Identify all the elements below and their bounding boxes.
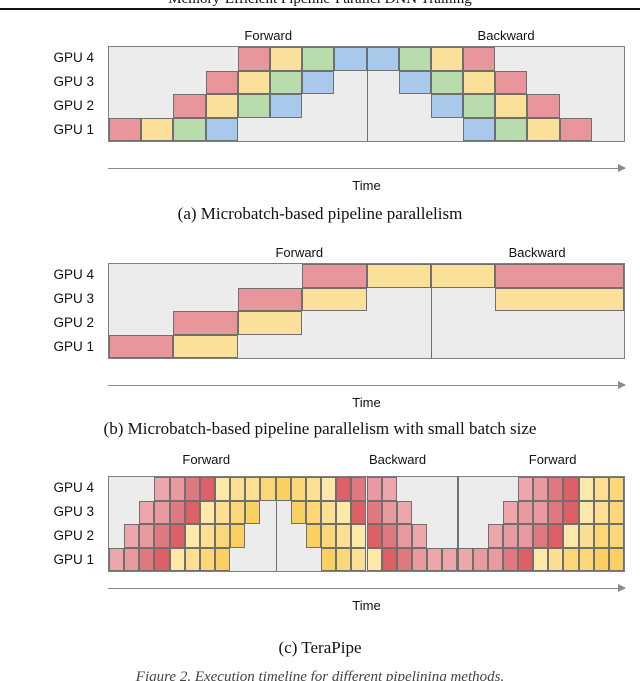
timeline-cell [351,477,366,501]
timeline-cell [185,548,200,572]
timeline-cell [463,47,495,71]
axis-line [108,168,625,169]
timeline-cell [427,548,442,572]
timeline-cell [579,524,594,548]
phase-label-backward-1: Backward [509,245,566,260]
timeline-cell [276,477,291,501]
timeline-cell [321,477,336,501]
arrow-head-icon [618,584,626,592]
timeline-cell [154,524,169,548]
timeline-cell [527,94,559,118]
timeline-cell [321,524,336,548]
timeline-cell [442,548,457,572]
timeline-cell [609,524,624,548]
timeline-cell [367,477,382,501]
gpu-label-gpu-2: GPU 2 [53,99,94,113]
timeline-cell [336,501,351,525]
axis-title-time: Time [108,598,625,613]
timeline-cell [533,477,548,501]
timeline-cell [200,524,215,548]
timeline-cell [200,477,215,501]
timeline-cell [412,524,427,548]
timeline-cell [503,548,518,572]
axis-line [108,385,625,386]
timeline-cell [260,477,275,501]
timeline-cell [594,548,609,572]
timeline-cell [321,501,336,525]
panel-caption-a: (a) Microbatch-based pipeline parallelis… [0,204,640,224]
timeline-cell [141,118,173,142]
timeline-cell [399,71,431,95]
timeline-cell [495,71,527,95]
timeline-cell [488,548,503,572]
timeline-cell [173,335,237,359]
timeline-cell [238,71,270,95]
timeline-cell [185,501,200,525]
timeline-cell [518,477,533,501]
phase-label-row: ForwardBackwardForward [108,452,625,469]
timeline-cell [594,501,609,525]
timeline-cell [548,477,563,501]
gpu-axis-labels: GPU 4GPU 3GPU 2GPU 1 [0,263,100,359]
timeline-cell [548,501,563,525]
figure-root: Memory-Efficient Pipeline-Parallel DNN T… [0,0,640,680]
timeline-cell [412,548,427,572]
gpu-label-gpu-4: GPU 4 [53,481,94,495]
timeline-cell [173,94,205,118]
gpu-label-gpu-4: GPU 4 [53,268,94,282]
timeline-cell [563,477,578,501]
axis-title-time: Time [108,395,625,410]
phase-label-forward-2: Forward [529,452,577,467]
timeline-cell [367,264,431,288]
timeline-cell [270,94,302,118]
timeline-cell [238,288,302,312]
timeline-cell [473,548,488,572]
timeline-cell [382,501,397,525]
timeline-cell [124,524,139,548]
timeline-cell [397,501,412,525]
timeline-cell [170,477,185,501]
phase-label-backward-1: Backward [369,452,426,467]
timeline-cell [336,524,351,548]
timeline-cell [563,501,578,525]
phase-divider [276,477,277,571]
timeline-cell [495,94,527,118]
timeline-plot-b [108,263,625,359]
timeline-cell [533,501,548,525]
gpu-label-gpu-3: GPU 3 [53,505,94,519]
timeline-cell [206,71,238,95]
timeline-cell [230,524,245,548]
gpu-label-gpu-1: GPU 1 [53,340,94,354]
timeline-cell [306,524,321,548]
timeline-cell [609,477,624,501]
timeline-cell [351,548,366,572]
timeline-cell [291,501,306,525]
timeline-cell [533,524,548,548]
timeline-cell [270,71,302,95]
timeline-cell [230,477,245,501]
timeline-cell [238,311,302,335]
phase-label-backward-1: Backward [478,28,535,43]
timeline-cell [579,548,594,572]
timeline-cell [124,548,139,572]
timeline-cell [518,524,533,548]
gpu-label-gpu-2: GPU 2 [53,529,94,543]
timeline-plot-c [108,476,625,572]
timeline-cell [336,548,351,572]
timeline-cell [495,118,527,142]
phase-label-row: ForwardBackward [108,245,625,262]
gpu-axis-labels: GPU 4GPU 3GPU 2GPU 1 [0,46,100,142]
timeline-cell [463,118,495,142]
timeline-cell [185,524,200,548]
timeline-cell [594,477,609,501]
time-axis-arrow [108,583,625,595]
timeline-cell [238,47,270,71]
timeline-cell [109,335,173,359]
timeline-cell [579,501,594,525]
timeline-cell [245,501,260,525]
timeline-cell [173,118,205,142]
phase-label-forward-0: Forward [244,28,292,43]
arrow-head-icon [618,164,626,172]
timeline-cell [367,501,382,525]
timeline-cell [518,501,533,525]
timeline-cell [503,524,518,548]
timeline-cell [463,94,495,118]
gpu-label-gpu-2: GPU 2 [53,316,94,330]
timeline-cell [215,501,230,525]
timeline-cell [367,47,399,71]
gpu-label-gpu-3: GPU 3 [53,75,94,89]
timeline-cell [457,548,472,572]
timeline-cell [351,524,366,548]
timeline-cell [463,71,495,95]
timeline-cell [548,524,563,548]
timeline-cell [302,288,366,312]
timeline-cell [154,477,169,501]
timeline-cell [609,548,624,572]
timeline-plot-a [108,46,625,142]
timeline-cell [302,71,334,95]
timeline-cell [563,548,578,572]
timeline-cell [302,47,334,71]
gpu-label-gpu-1: GPU 1 [53,123,94,137]
time-axis-arrow [108,380,625,392]
timeline-cell [238,94,270,118]
timeline-cell [206,94,238,118]
timeline-cell [170,501,185,525]
timeline-cell [154,501,169,525]
gpu-label-gpu-4: GPU 4 [53,51,94,65]
timeline-cell [109,118,141,142]
figure-caption: Figure 2. Execution timeline for differe… [0,669,640,681]
timeline-cell [488,524,503,548]
timeline-cell [200,501,215,525]
timeline-cell [321,548,336,572]
timeline-cell [170,548,185,572]
timeline-cell [185,477,200,501]
gpu-label-gpu-3: GPU 3 [53,292,94,306]
timeline-cell [548,548,563,572]
phase-divider [367,47,368,141]
gpu-axis-labels: GPU 4GPU 3GPU 2GPU 1 [0,476,100,572]
timeline-cell [291,477,306,501]
timeline-cell [527,118,559,142]
timeline-cell [245,477,260,501]
timeline-cell [382,524,397,548]
timeline-cell [215,477,230,501]
timeline-cell [382,477,397,501]
timeline-cell [399,47,431,71]
timeline-cell [200,548,215,572]
timeline-cell [367,524,382,548]
timeline-cell [215,548,230,572]
timeline-cell [518,548,533,572]
timeline-cell [139,501,154,525]
timeline-cell [579,477,594,501]
timeline-cell [495,264,624,288]
axis-line [108,588,625,589]
phase-label-forward-0: Forward [182,452,230,467]
timeline-cell [154,548,169,572]
timeline-cell [609,501,624,525]
timeline-cell [431,94,463,118]
panel-caption-c: (c) TeraPipe [0,638,640,658]
timeline-cell [270,47,302,71]
timeline-cell [560,118,592,142]
timeline-cell [170,524,185,548]
timeline-cell [302,264,366,288]
axis-title-time: Time [108,178,625,193]
phase-label-forward-0: Forward [275,245,323,260]
timeline-cell [306,501,321,525]
timeline-cell [594,524,609,548]
gpu-label-gpu-1: GPU 1 [53,553,94,567]
phase-divider [457,477,458,571]
timeline-cell [533,548,548,572]
timeline-cell [306,477,321,501]
phase-divider [431,264,432,358]
time-axis-arrow [108,163,625,175]
timeline-cell [397,548,412,572]
timeline-cell [431,264,495,288]
arrow-head-icon [618,381,626,389]
timeline-cell [173,311,237,335]
timeline-cell [230,501,245,525]
timeline-cell [503,501,518,525]
header-rule [0,8,640,10]
timeline-cell [351,501,366,525]
timeline-cell [139,548,154,572]
timeline-cell [382,548,397,572]
timeline-cell [563,524,578,548]
timeline-cell [495,288,624,312]
phase-label-row: ForwardBackward [108,28,625,45]
timeline-cell [215,524,230,548]
timeline-cell [139,524,154,548]
panel-caption-b: (b) Microbatch-based pipeline parallelis… [0,419,640,439]
timeline-cell [206,118,238,142]
timeline-cell [431,47,463,71]
timeline-cell [431,71,463,95]
timeline-cell [334,47,366,71]
timeline-cell [109,548,124,572]
timeline-cell [367,548,382,572]
timeline-cell [336,477,351,501]
timeline-cell [397,524,412,548]
